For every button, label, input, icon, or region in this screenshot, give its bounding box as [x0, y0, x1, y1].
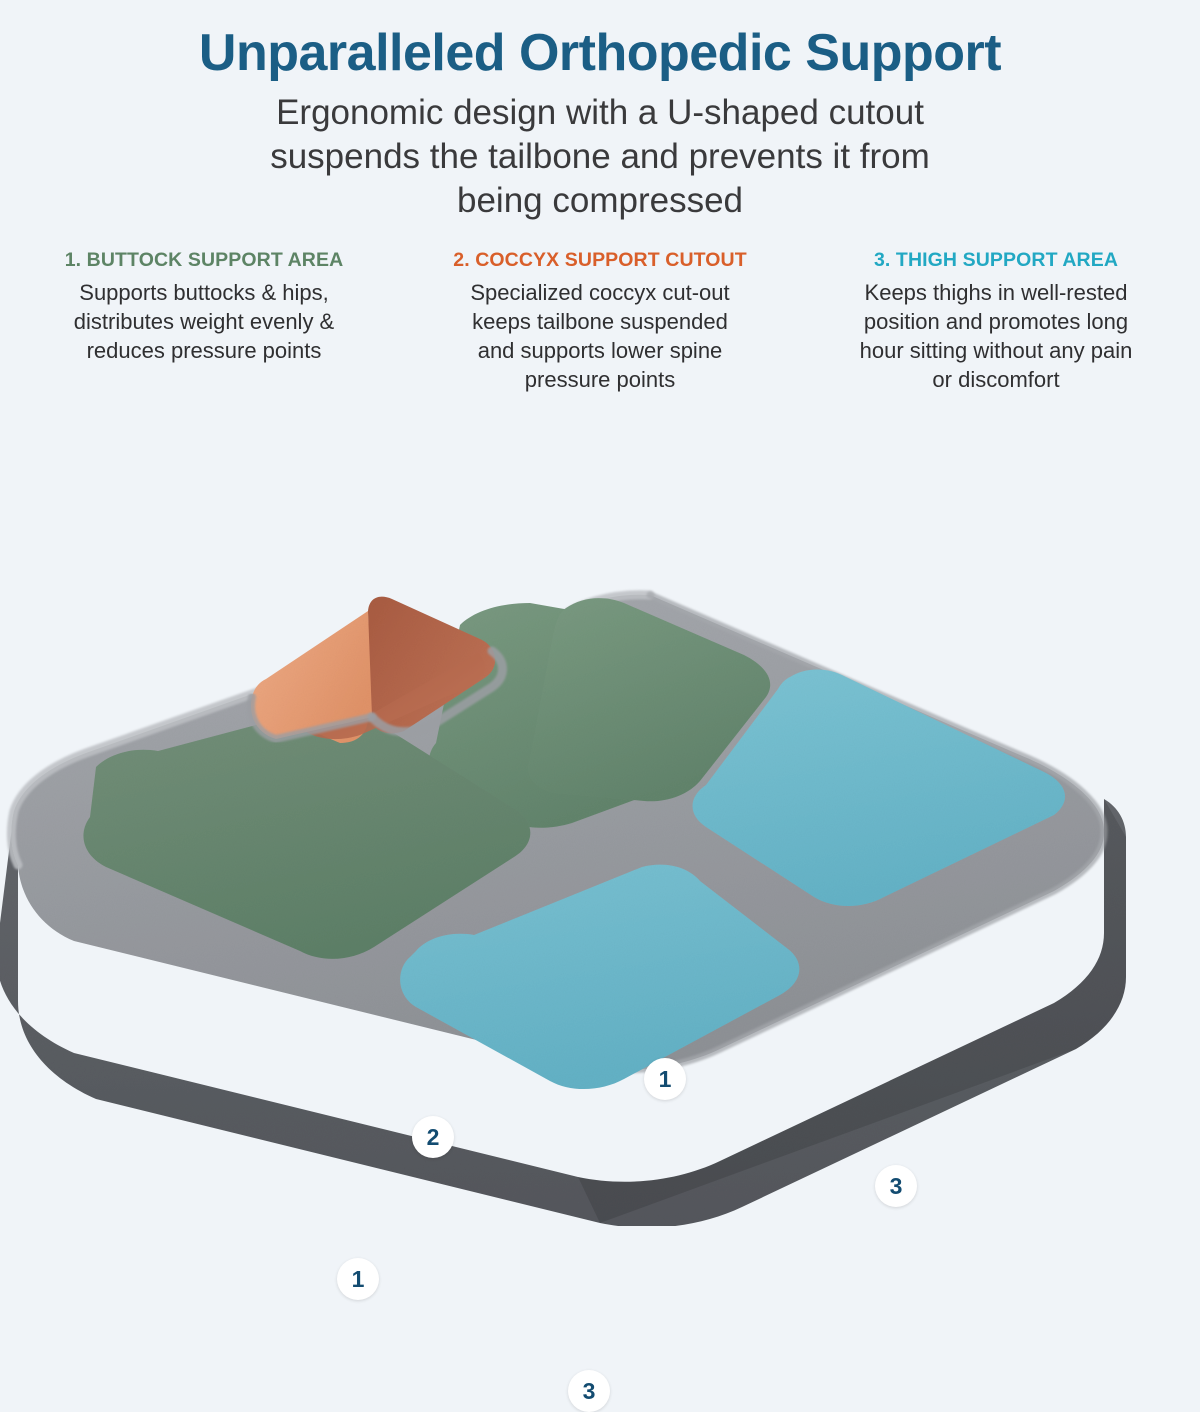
feature-body-1: Supports buttocks & hips, distributes we… [18, 278, 390, 365]
badge-coccyx-cutout[interactable]: 2 [412, 1116, 454, 1158]
feature-3-line-3: hour sitting without any pain [860, 338, 1133, 363]
feature-buttock-support: 1. BUTTOCK SUPPORT AREA Supports buttock… [18, 249, 390, 365]
feature-2-line-4: pressure points [525, 367, 675, 392]
feature-3-line-4: or discomfort [932, 367, 1059, 392]
badge-buttock-support-rear[interactable]: 1 [644, 1058, 686, 1100]
subtitle-line-2: suspends the tailbone and prevents it fr… [150, 135, 1050, 179]
feature-1-line-1: Supports buttocks & hips, [79, 280, 328, 305]
feature-2-line-2: keeps tailbone suspended [472, 309, 728, 334]
seat-cushion-render [0, 481, 1200, 1226]
feature-2-line-1: Specialized coccyx cut-out [470, 280, 729, 305]
feature-1-line-3: reduces pressure points [87, 338, 322, 363]
feature-title-1: 1. BUTTOCK SUPPORT AREA [18, 249, 390, 271]
feature-title-3: 3. THIGH SUPPORT AREA [810, 249, 1182, 271]
feature-body-2: Specialized coccyx cut-out keeps tailbon… [414, 278, 786, 394]
feature-body-3: Keeps thighs in well-rested position and… [810, 278, 1182, 394]
feature-3-line-2: position and promotes long [864, 309, 1128, 334]
subtitle-line-3: being compressed [150, 179, 1050, 223]
page-title: Unparalleled Orthopedic Support [0, 26, 1200, 81]
badge-buttock-support-left[interactable]: 1 [337, 1258, 379, 1300]
subtitle-line-1: Ergonomic design with a U-shaped cutout [150, 91, 1050, 135]
feature-2-line-3: and supports lower spine [478, 338, 723, 363]
feature-title-2: 2. COCCYX SUPPORT CUTOUT [414, 249, 786, 271]
badge-thigh-support-rear[interactable]: 3 [875, 1165, 917, 1207]
feature-coccyx-cutout: 2. COCCYX SUPPORT CUTOUT Specialized coc… [414, 249, 786, 394]
feature-1-line-2: distributes weight evenly & [74, 309, 334, 334]
feature-thigh-support: 3. THIGH SUPPORT AREA Keeps thighs in we… [810, 249, 1182, 394]
feature-3-line-1: Keeps thighs in well-rested [865, 280, 1128, 305]
badge-thigh-support-front[interactable]: 3 [568, 1370, 610, 1412]
feature-list: 1. BUTTOCK SUPPORT AREA Supports buttock… [18, 249, 1182, 394]
page-subtitle: Ergonomic design with a U-shaped cutout … [150, 91, 1050, 223]
product-illustration: 1 2 3 1 3 [0, 481, 1200, 1226]
